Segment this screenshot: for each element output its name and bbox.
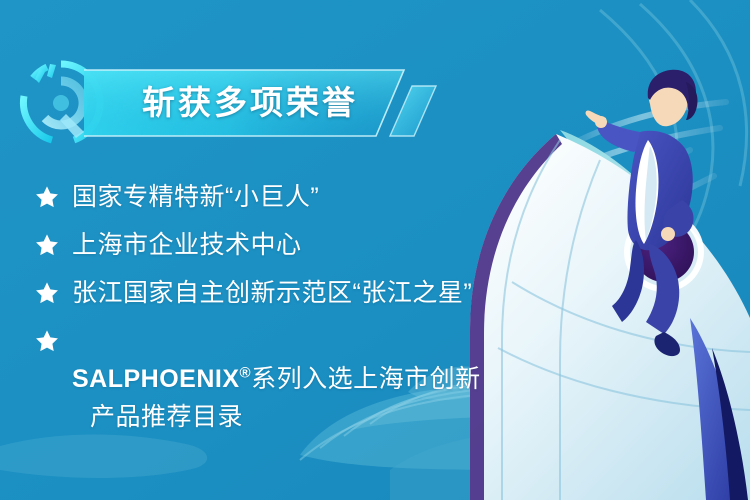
honor-label-3-suffix: 系列入选上海市创新 (251, 365, 481, 393)
brand-name: SALPHOENIX (72, 365, 240, 393)
star-icon (34, 226, 60, 264)
registered-mark: ® (240, 365, 252, 382)
list-item: 张江国家自主创新示范区“张江之星” (34, 274, 594, 312)
promo-banner-canvas: 斩获多项荣誉 国家专精特新“小巨人” 上海市企业技术中心 张江国家自主创新示范区… (0, 0, 750, 500)
header: 斩获多项荣誉 (0, 28, 470, 133)
page-title: 斩获多项荣誉 (142, 74, 382, 132)
honor-label-2: 张江国家自主创新示范区“张江之星” (72, 274, 472, 312)
list-item: 上海市企业技术中心 (34, 226, 594, 264)
star-icon (34, 322, 60, 360)
list-item: 国家专精特新“小巨人” (34, 178, 594, 216)
star-icon (34, 178, 60, 216)
honors-list: 国家专精特新“小巨人” 上海市企业技术中心 张江国家自主创新示范区“张江之星” … (34, 178, 594, 484)
honor-label-3: SALPHOENIX®系列入选上海市创新产品推荐目录 (72, 322, 481, 474)
list-item: SALPHOENIX®系列入选上海市创新产品推荐目录 (34, 322, 594, 474)
honor-label-1: 上海市企业技术中心 (72, 226, 302, 264)
honor-label-3-line2: 产品推荐目录 (72, 398, 481, 436)
honor-label-0: 国家专精特新“小巨人” (72, 178, 319, 216)
star-icon (34, 274, 60, 312)
